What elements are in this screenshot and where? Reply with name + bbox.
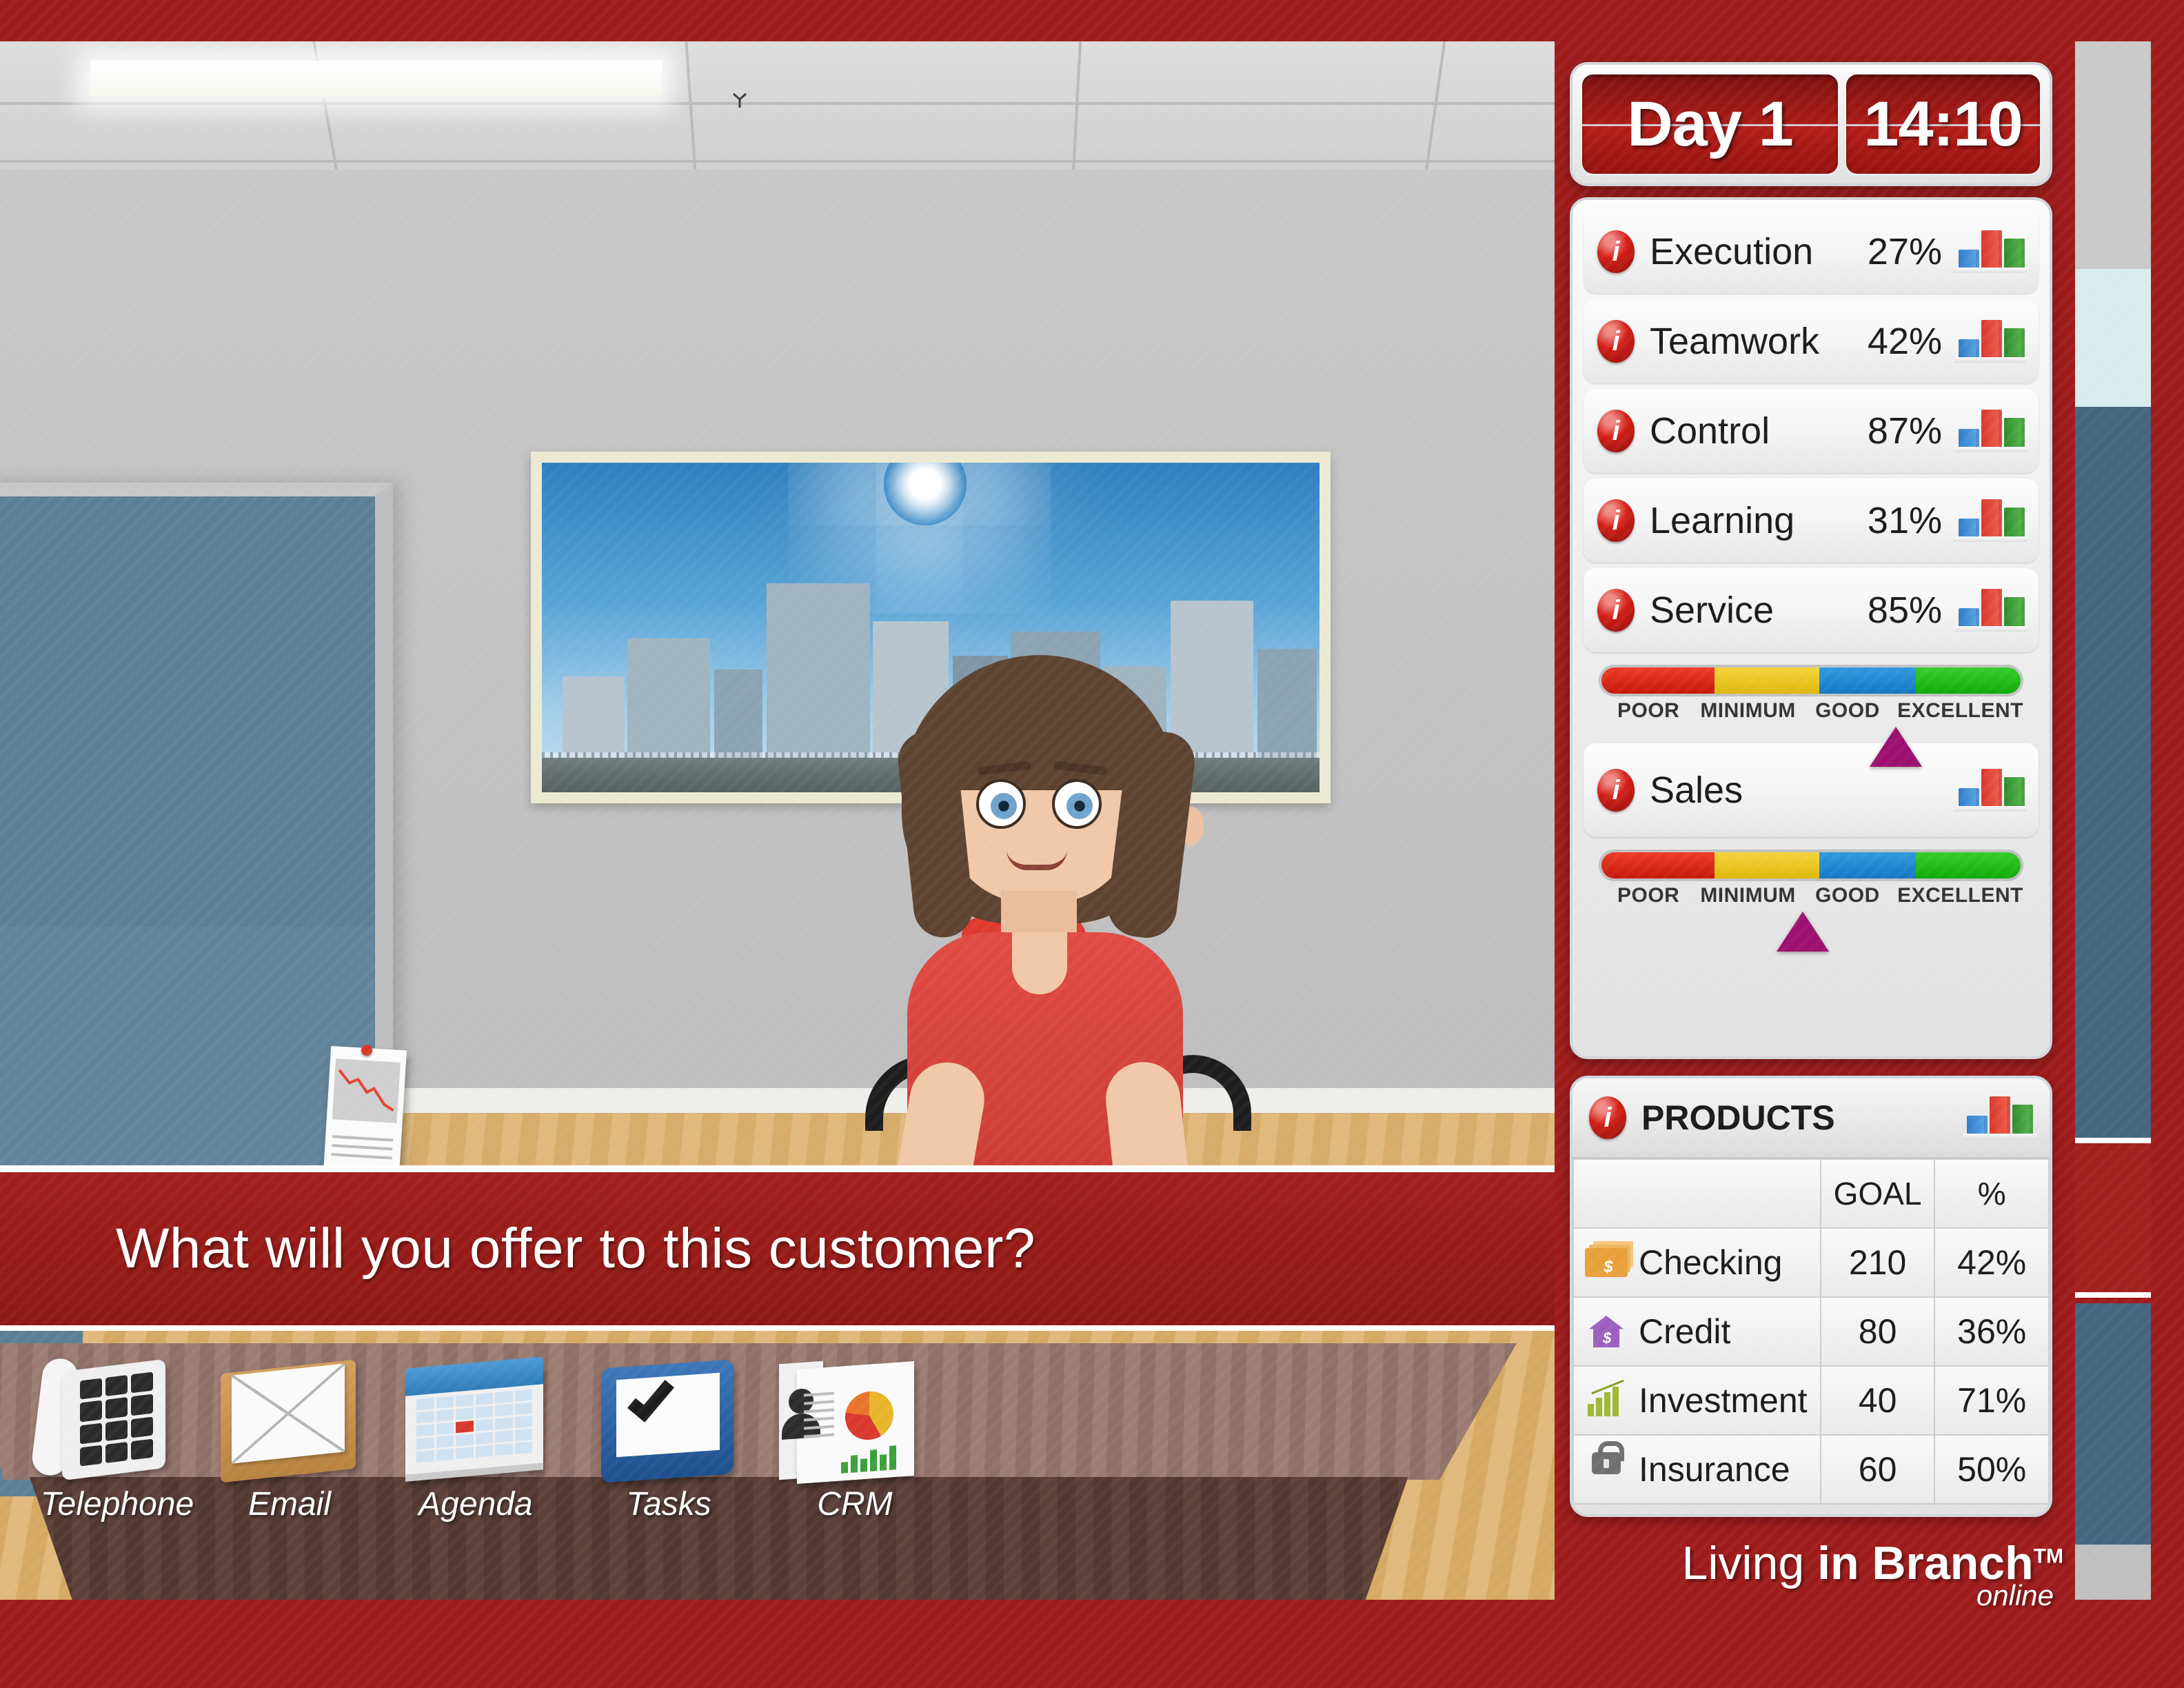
avatar-eye-right: [1052, 779, 1102, 829]
product-pct: 71%: [1934, 1366, 2049, 1435]
metrics-panel: i Execution 27% i Teamwork 42% i Control…: [1570, 197, 2052, 1059]
metric-value: 27%: [1868, 230, 1942, 273]
metric-label: Control: [1650, 410, 1868, 452]
gauge-label-good: GOOD: [1798, 699, 1897, 723]
product-pct: 42%: [1934, 1228, 2049, 1297]
col-header-pct: %: [1934, 1159, 2049, 1228]
toolbar-item-tasks[interactable]: Tasks: [565, 1356, 772, 1523]
product-goal: 40: [1821, 1366, 1935, 1435]
metric-row-execution[interactable]: i Execution 27%: [1584, 210, 2039, 294]
day-value: Day 1: [1627, 88, 1793, 161]
dashboard-panel: Day 1 14:10 i Execution 27% i Teamwork 4…: [1555, 41, 2092, 1600]
info-icon[interactable]: i: [1597, 230, 1635, 273]
tasks-icon: [565, 1356, 772, 1480]
service-gauge-bar: [1599, 665, 2023, 696]
cash-icon: [1584, 1244, 1629, 1281]
info-icon[interactable]: i: [1597, 410, 1635, 452]
metric-value: 42%: [1868, 320, 1942, 363]
products-table: GOAL % Checking 210 42% Credit: [1573, 1158, 2050, 1505]
info-icon[interactable]: i: [1597, 320, 1635, 363]
metric-label: Service: [1650, 589, 1868, 632]
metric-row-teamwork[interactable]: i Teamwork 42%: [1584, 299, 2039, 383]
toolbar-label-agenda: Agenda: [372, 1485, 579, 1523]
metric-row-control[interactable]: i Control 87%: [1584, 389, 2039, 473]
application-window: What will you offer to this customer? Te…: [0, 0, 2184, 1688]
col-header-goal: GOAL: [1821, 1159, 1935, 1228]
metric-row-sales[interactable]: i Sales: [1584, 743, 2039, 837]
product-pct: 36%: [1934, 1297, 2049, 1366]
crm-icon: [751, 1356, 958, 1480]
toolbar-item-agenda[interactable]: Agenda: [372, 1356, 579, 1523]
clock: 14:10: [1846, 74, 2040, 174]
table-row[interactable]: Investment 40 71%: [1573, 1366, 2049, 1435]
sales-gauge-marker: [1777, 912, 1829, 952]
house-icon: [1584, 1313, 1629, 1350]
gauge-label-poor: POOR: [1599, 884, 1698, 907]
toolbar-label-tasks: Tasks: [565, 1485, 772, 1523]
day-counter: Day 1: [1582, 74, 1838, 174]
bar-chart-icon[interactable]: [1967, 1096, 2033, 1139]
cubicle-partition: [0, 483, 393, 1214]
bar-chart-icon[interactable]: [1959, 499, 2025, 542]
table-row[interactable]: Checking 210 42%: [1573, 1228, 2049, 1297]
product-name: Credit: [1639, 1312, 1730, 1352]
products-header: i PRODUCTS: [1573, 1078, 2050, 1158]
products-title: PRODUCTS: [1641, 1098, 1967, 1138]
products-panel: i PRODUCTS GOAL % Checking: [1570, 1076, 2052, 1517]
gauge-label-minimum: MINIMUM: [1698, 699, 1797, 723]
service-gauge-marker: [1870, 727, 1922, 767]
info-icon[interactable]: i: [1597, 499, 1635, 542]
declining-chart-icon: [332, 1058, 401, 1123]
bar-chart-icon[interactable]: [1959, 230, 2025, 273]
sales-gauge-bar: [1599, 850, 2023, 881]
col-header-name: [1573, 1159, 1821, 1228]
customer-avatar[interactable]: [896, 648, 1186, 1200]
product-name: Checking: [1639, 1243, 1782, 1283]
metric-value: 31%: [1868, 499, 1942, 542]
pushpin-icon: [361, 1045, 372, 1056]
service-gauge-labels: POOR MINIMUM GOOD EXCELLENT: [1599, 699, 2023, 723]
info-icon[interactable]: i: [1597, 769, 1635, 812]
table-header-row: GOAL %: [1573, 1159, 2049, 1228]
metric-label: Execution: [1650, 230, 1868, 273]
toolbar-label-crm: CRM: [751, 1485, 958, 1523]
product-name: Investment: [1639, 1380, 1808, 1420]
day-clock-panel: Day 1 14:10: [1570, 62, 2052, 186]
sales-gauge: POOR MINIMUM GOOD EXCELLENT: [1584, 843, 2039, 910]
bar-chart-icon[interactable]: [1959, 410, 2025, 452]
sales-gauge-labels: POOR MINIMUM GOOD EXCELLENT: [1599, 884, 2023, 907]
toolbar-label-email: Email: [186, 1485, 393, 1523]
bar-chart-icon[interactable]: [1959, 320, 2025, 363]
sprinkler-icon: [731, 91, 749, 109]
table-row[interactable]: Insurance 60 50%: [1573, 1435, 2049, 1504]
question-text: What will you offer to this customer?: [116, 1216, 1035, 1281]
gauge-label-excellent: EXCELLENT: [1897, 884, 2023, 907]
lock-icon: [1584, 1451, 1629, 1488]
product-pct: 50%: [1934, 1435, 2049, 1504]
logo-part1: Living: [1682, 1537, 1818, 1589]
metric-label: Learning: [1650, 499, 1868, 542]
ceiling-light: [89, 61, 663, 97]
metric-value: 87%: [1868, 410, 1942, 452]
metric-row-learning[interactable]: i Learning 31%: [1584, 479, 2039, 563]
info-icon[interactable]: i: [1597, 589, 1635, 632]
product-goal: 60: [1821, 1435, 1935, 1504]
product-goal: 210: [1821, 1228, 1935, 1297]
service-gauge: POOR MINIMUM GOOD EXCELLENT: [1584, 658, 2039, 725]
bar-chart-icon[interactable]: [1959, 589, 2025, 632]
toolbar-item-email[interactable]: Email: [186, 1356, 393, 1523]
product-logo: Living in BranchTM online: [1568, 1536, 2079, 1633]
ceiling: [0, 41, 1555, 172]
metric-label: Teamwork: [1650, 320, 1868, 363]
investment-icon: [1584, 1382, 1629, 1419]
toolbar-item-crm[interactable]: CRM: [751, 1356, 958, 1523]
desk-toolbar: Telephone Email: [0, 1325, 1555, 1600]
product-name: Insurance: [1639, 1449, 1790, 1489]
avatar-eye-left: [976, 779, 1026, 829]
table-row[interactable]: Credit 80 36%: [1573, 1297, 2049, 1366]
email-icon: [186, 1356, 393, 1480]
agenda-icon: [372, 1356, 579, 1480]
question-banner: What will you offer to this customer?: [0, 1165, 1555, 1325]
product-goal: 80: [1821, 1297, 1935, 1366]
gauge-label-minimum: MINIMUM: [1698, 884, 1797, 907]
gauge-label-good: GOOD: [1798, 884, 1897, 907]
gauge-label-excellent: EXCELLENT: [1897, 699, 2023, 723]
metric-value: 85%: [1868, 589, 1942, 632]
sun-icon: [884, 463, 967, 525]
metric-row-service[interactable]: i Service 85%: [1584, 568, 2039, 652]
info-icon[interactable]: i: [1589, 1096, 1626, 1139]
gauge-label-poor: POOR: [1599, 699, 1698, 723]
logo-trademark: TM: [2034, 1545, 2063, 1567]
clock-value: 14:10: [1863, 88, 2022, 161]
metric-label: Sales: [1650, 769, 1959, 812]
bar-chart-icon[interactable]: [1959, 769, 2025, 812]
